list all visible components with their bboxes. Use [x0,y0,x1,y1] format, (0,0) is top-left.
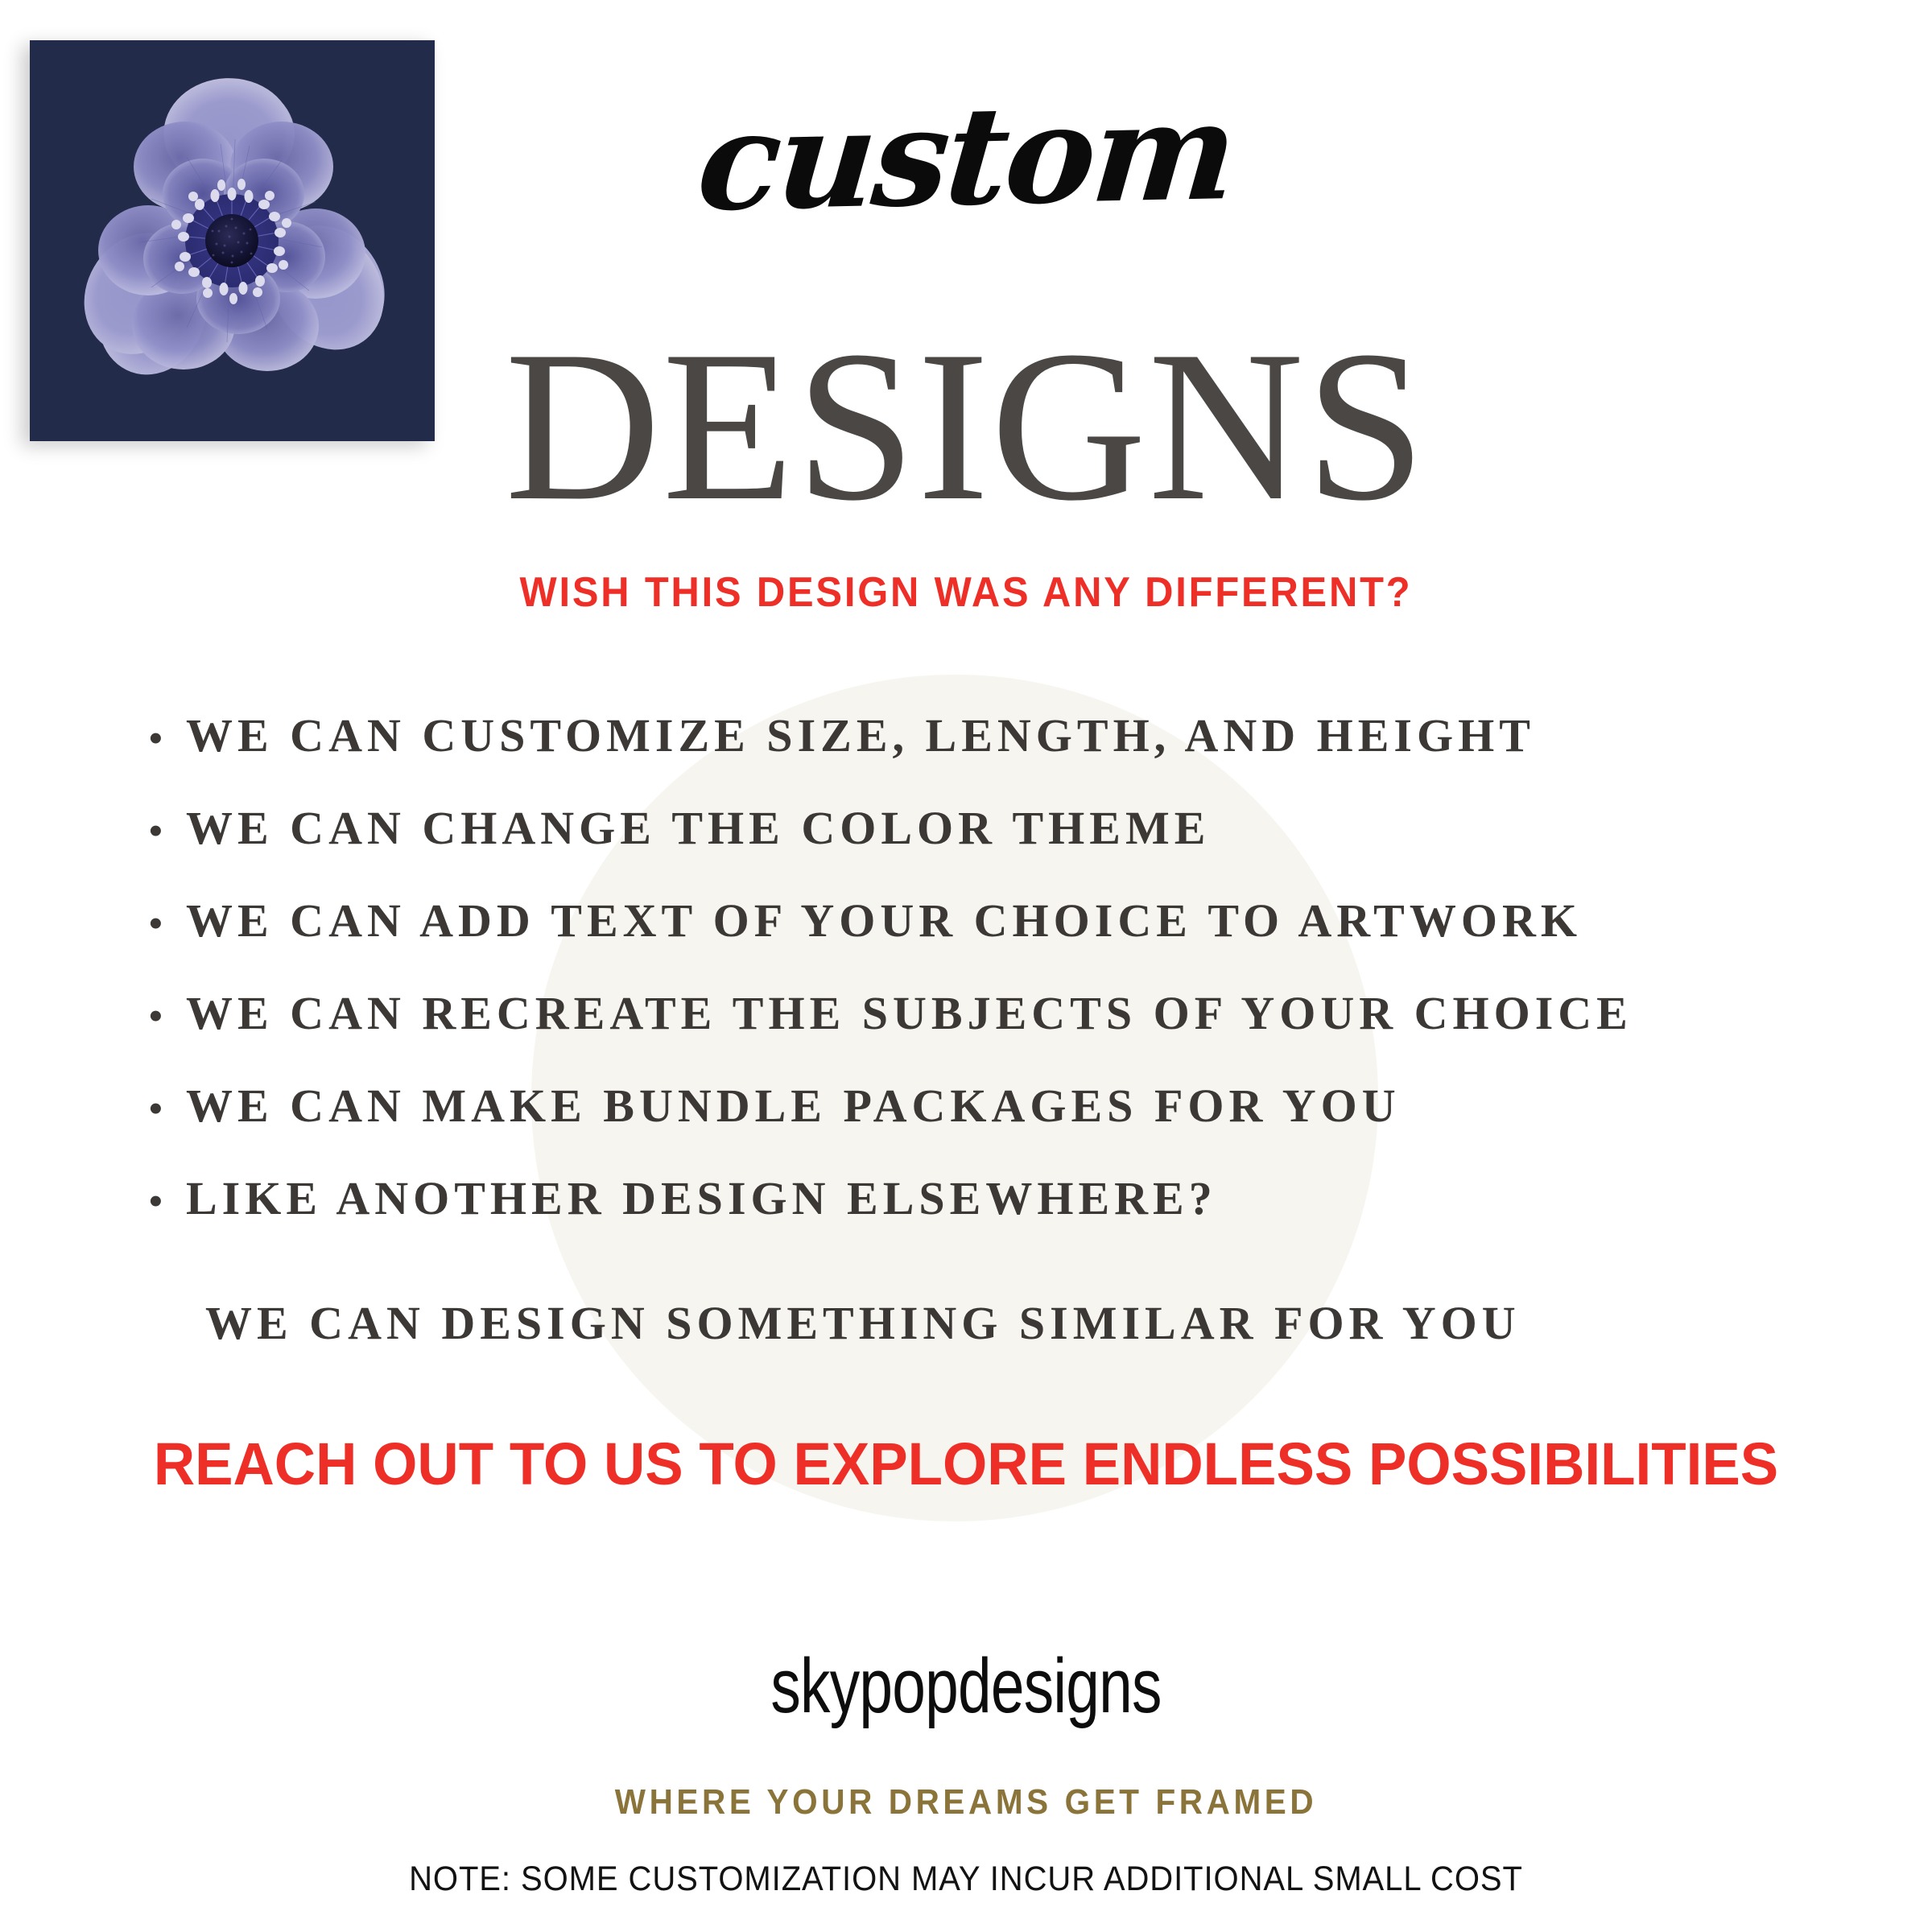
list-item: • WE CAN MAKE BUNDLE PACKAGES FOR YOU [149,1079,1839,1133]
list-item: • LIKE ANOTHER DESIGN ELSEWHERE? [149,1171,1839,1225]
list-item-label: WE CAN ADD TEXT OF YOUR CHOICE TO ARTWOR… [186,894,1582,947]
bullet-dot-icon: • [149,1090,186,1129]
custom-designs-promo-graphic: custom DESIGNS WISH THIS DESIGN WAS ANY … [0,0,1932,1932]
list-item-label: WE CAN CHANGE THE COLOR THEME [186,801,1210,855]
script-word-custom: custom [557,80,1375,233]
brand-logo-wordmark: skypopdesigns [589,1642,1343,1731]
footer-note-text: NOTE: SOME CUSTOMIZATION MAY INCUR ADDIT… [217,1860,1715,1899]
list-continuation-label: WE CAN DESIGN SOMETHING SIMILAR FOR YOU [205,1296,1521,1350]
list-item-label: WE CAN CUSTOMIZE SIZE, LENGTH, AND HEIGH… [186,708,1535,762]
bullet-dot-icon: • [149,997,186,1036]
bullet-dot-icon: • [149,812,186,851]
call-to-action-text: REACH OUT TO US TO EXPLORE ENDLESS POSSI… [116,1430,1816,1498]
bullet-dot-icon: • [149,720,186,758]
list-item-label: WE CAN MAKE BUNDLE PACKAGES FOR YOU [186,1079,1401,1133]
brand-tagline: WHERE YOUR DREAMS GET FRAMED [522,1782,1410,1823]
bullet-dot-icon: • [149,905,186,943]
page-title-designs: DESIGNS [362,318,1570,534]
customization-options-list: • WE CAN CUSTOMIZE SIZE, LENGTH, AND HEI… [149,708,1839,1264]
list-item-label: WE CAN RECREATE THE SUBJECTS OF YOUR CHO… [186,986,1633,1040]
list-item: • WE CAN CUSTOMIZE SIZE, LENGTH, AND HEI… [149,708,1839,762]
list-item-label: LIKE ANOTHER DESIGN ELSEWHERE? [186,1171,1217,1225]
subheading-wish-different: WISH THIS DESIGN WAS ANY DIFFERENT? [209,568,1723,617]
list-item: • WE CAN CHANGE THE COLOR THEME [149,801,1839,855]
bullet-dot-icon: • [149,1183,186,1221]
list-item: • WE CAN ADD TEXT OF YOUR CHOICE TO ARTW… [149,894,1839,947]
list-item: • WE CAN RECREATE THE SUBJECTS OF YOUR C… [149,986,1839,1040]
